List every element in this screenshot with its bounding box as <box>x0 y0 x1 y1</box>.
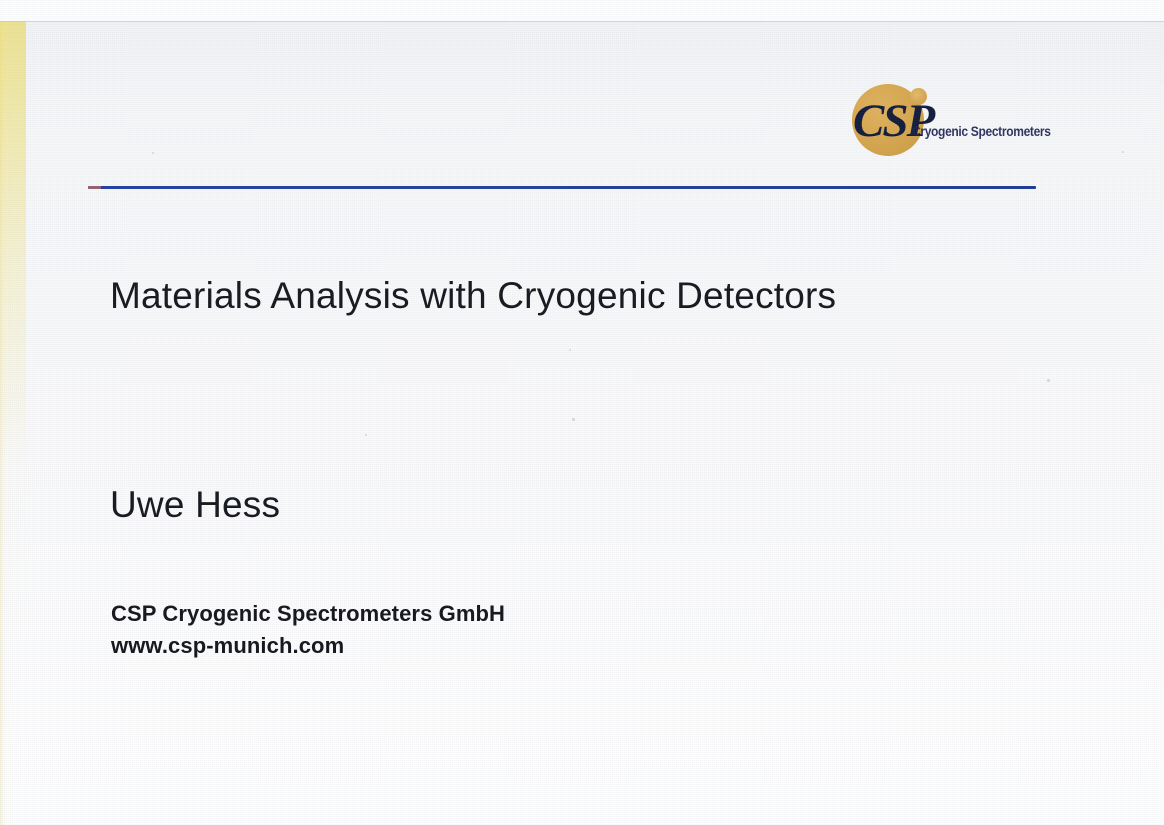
header-divider-end-cap <box>88 186 101 189</box>
csp-logo: CSP Cryogenic Spectrometers <box>848 82 1053 162</box>
affiliation-block: CSP Cryogenic Spectrometers GmbH www.csp… <box>111 598 505 662</box>
logo-monogram: CSP <box>853 85 925 157</box>
affiliation-organization: CSP Cryogenic Spectrometers GmbH <box>111 598 505 630</box>
logo-tagline: Cryogenic Spectrometers <box>912 123 1051 139</box>
author-name: Uwe Hess <box>110 481 280 529</box>
header-divider <box>88 186 1036 190</box>
slide-title: Materials Analysis with Cryogenic Detect… <box>110 268 930 323</box>
presentation-title-slide: CSP Cryogenic Spectrometers Materials An… <box>0 0 1164 825</box>
header-divider-line <box>88 186 1036 189</box>
page-top-edge <box>0 21 1164 22</box>
affiliation-website: www.csp-munich.com <box>111 630 505 662</box>
